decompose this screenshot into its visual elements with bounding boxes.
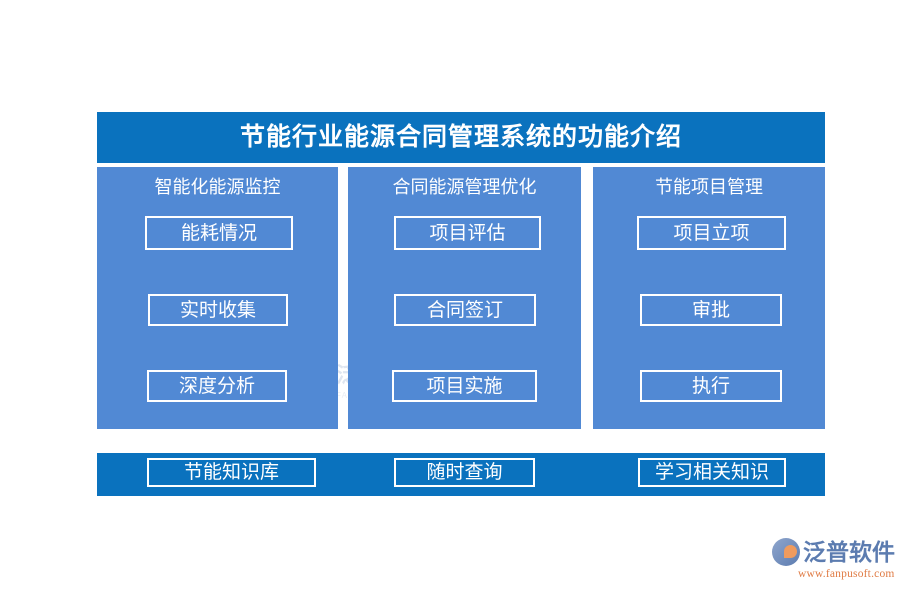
item-box-project-evaluation[interactable]: 项目评估 — [394, 216, 541, 250]
brand-url: www.fanpusoft.com — [798, 568, 892, 580]
page-title-bar: 节能行业能源合同管理系统的功能介绍 — [97, 112, 825, 163]
item-box-learn-related-knowledge[interactable]: 学习相关知识 — [638, 458, 786, 487]
item-box-project-implementation[interactable]: 项目实施 — [392, 370, 537, 402]
column-header: 智能化能源监控 — [97, 176, 338, 199]
item-box-project-initiation[interactable]: 项目立项 — [637, 216, 786, 250]
column-header: 节能项目管理 — [593, 176, 825, 199]
column-intelligent-energy-monitoring: 智能化能源监控 能耗情况 实时收集 深度分析 — [97, 167, 338, 429]
item-box-deep-analysis[interactable]: 深度分析 — [147, 370, 287, 402]
item-box-approval[interactable]: 审批 — [640, 294, 782, 326]
slide-canvas: 泛普软件 FANPU SOFTWARE 节能行业能源合同管理系统的功能介绍 智能… — [0, 0, 900, 600]
brand-logo: 泛普软件 www.fanpusoft.com — [772, 538, 892, 584]
column-contract-energy-management: 合同能源管理优化 项目评估 合同签订 项目实施 — [348, 167, 581, 429]
item-box-energy-consumption[interactable]: 能耗情况 — [145, 216, 293, 250]
page-title: 节能行业能源合同管理系统的功能介绍 — [240, 125, 682, 150]
column-energy-saving-project-management: 节能项目管理 项目立项 审批 执行 — [593, 167, 825, 429]
item-box-execution[interactable]: 执行 — [640, 370, 782, 402]
item-box-contract-signing[interactable]: 合同签订 — [394, 294, 536, 326]
brand-name-cn: 泛普软件 — [803, 541, 895, 564]
item-box-knowledge-base[interactable]: 节能知识库 — [147, 458, 316, 487]
item-box-realtime-collection[interactable]: 实时收集 — [148, 294, 288, 326]
column-header: 合同能源管理优化 — [348, 176, 581, 199]
fanpu-logo-icon — [772, 538, 800, 566]
columns-container: 智能化能源监控 能耗情况 实时收集 深度分析 合同能源管理优化 项目评估 合同签… — [97, 167, 825, 429]
bottom-bar: 节能知识库 随时查询 学习相关知识 — [97, 453, 825, 496]
item-box-anytime-query[interactable]: 随时查询 — [394, 458, 535, 487]
